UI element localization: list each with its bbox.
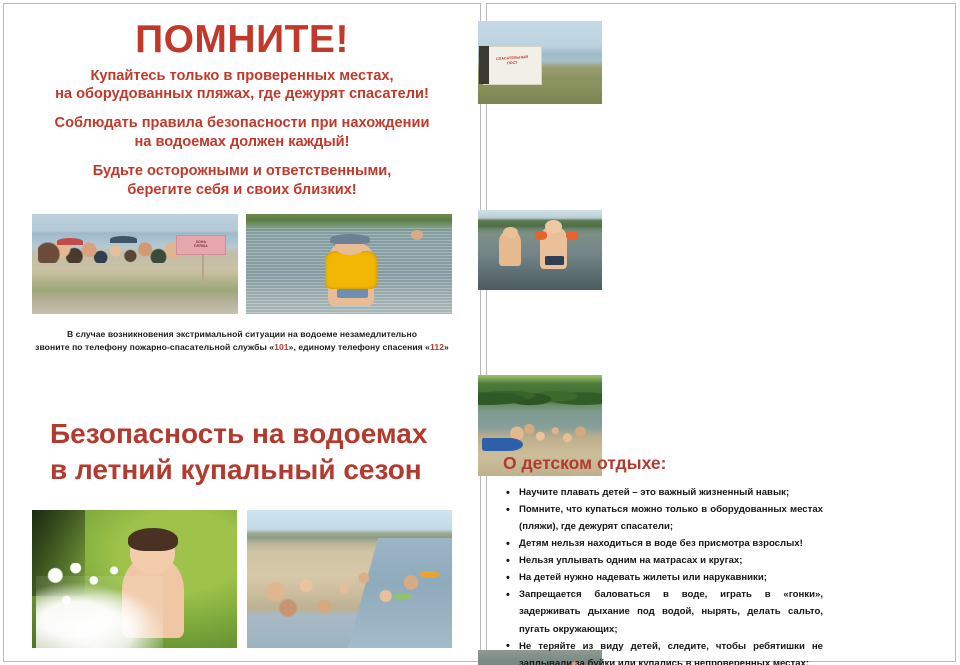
water-droplets-detail [44,563,157,625]
toddler-hair-detail [128,528,177,551]
lead-2-line-2: на водоемах должен каждый! [26,133,458,152]
lake-swimmers-detail [510,420,597,446]
poster-title-line-1: Безопасность на водоемах [50,418,427,449]
list-item: На детей нужно надевать жилеты или нарук… [505,569,823,586]
poster-main-title: Безопасность на водоемах в летний купаль… [50,416,480,488]
fire-rescue-phone-number: 101 [274,342,289,352]
rescue-post-tent-photo: СПАСАТЕЛЬНЫЙ ПОСТ [478,21,602,104]
lead-text-block: Купайтесь только в проверенных местах, н… [4,67,480,200]
green-float-detail [393,593,411,600]
zone-sign-post [202,255,204,281]
beach-umbrella-red [57,238,84,245]
children-recreation-list: Научите плавать детей – это важный жизне… [505,484,823,665]
children-playing-on-sandy-beach-photo [247,510,452,648]
list-item: Нельзя уплывать одним на матрасах и круг… [505,552,823,569]
children-recreation-title: О детском отдыхе: [503,453,955,474]
lead-1-line-2: на оборудованных пляжах, где дежурят спа… [26,85,458,104]
yellow-life-vest-detail [325,251,377,289]
list-item: Помните, что купаться можно только в обо… [505,501,823,535]
lead-paragraph-1: Купайтесь только в проверенных местах, н… [26,67,458,104]
lead-1-line-1: Купайтесь только в проверенных местах, [26,67,458,86]
poster-title-line-2: в летний купальный сезон [50,452,480,488]
distant-swimmer-detail [411,230,423,240]
lead-3-line-1: Будьте осторожными и ответственными, [26,162,458,181]
child-cap-detail [330,234,369,244]
zone-sign: ЗОНА ПЛЯЖА [176,235,225,255]
lead-paragraph-3: Будьте осторожными и ответственными, бер… [26,162,458,199]
beach-children-detail [259,563,439,639]
top-photo-row: ЗОНА ПЛЯЖА [32,214,452,314]
poster-page: ПОМНИТЕ! Купайтесь только в проверенных … [0,0,960,665]
emergency-text-b: », единому телефону спасения « [289,342,430,352]
left-boy-head-detail [503,227,518,238]
rescue-post-sign-line-2: ПОСТ [507,60,518,65]
lead-3-line-2: берегите себя и своих близких! [26,181,458,200]
child-in-yellow-life-vest-photo [246,214,452,314]
bottom-photo-row [32,510,452,648]
zone-sign-line-2: ПЛЯЖА [194,245,208,248]
blue-boat-detail [482,438,523,451]
list-item: Не теряйте из виду детей, следите, чтобы… [505,638,823,665]
unified-rescue-phone-number: 112 [430,342,444,352]
rescue-post-sign-text: СПАСАТЕЛЬНЫЙ ПОСТ [485,49,541,73]
lead-paragraph-2: Соблюдать правила безопасности при нахож… [26,114,458,151]
beach-with-zone-sign-photo: ЗОНА ПЛЯЖА [32,214,238,314]
emergency-line-2: звоните по телефону пожарно-спасательной… [22,341,462,354]
emergency-contact-note: В случае возникновения экстримальной сит… [22,328,462,355]
lead-2-line-1: Соблюдать правила безопасности при нахож… [26,114,458,133]
toddler-splashing-water-photo [32,510,237,648]
emergency-line-1: В случае возникновения экстримальной сит… [22,328,462,341]
treeline-detail [478,379,602,407]
emergency-text-c: » [444,342,449,352]
right-panel: СПАСАТЕЛЬНЫЙ ПОСТ [486,3,956,662]
children-recreation-section: О детском отдыхе: Научите плавать детей … [487,453,955,665]
beach-umbrella-blue [110,236,137,243]
orange-armband-right-detail [566,231,578,241]
list-item: Детям нельзя находиться в воде без присм… [505,535,823,552]
two-boys-with-orange-armbands-photo [478,210,602,290]
left-panel: ПОМНИТЕ! Купайтесь только в проверенных … [3,3,481,662]
emergency-text-a: звоните по телефону пожарно-спасательной… [35,342,274,352]
right-boy-trunks-detail [545,256,564,265]
list-item: Запрещается баловаться в воде, играть в … [505,586,823,637]
remember-title: ПОМНИТЕ! [4,20,480,60]
orange-float-detail [419,571,440,578]
list-item: Научите плавать детей – это важный жизне… [505,484,823,501]
